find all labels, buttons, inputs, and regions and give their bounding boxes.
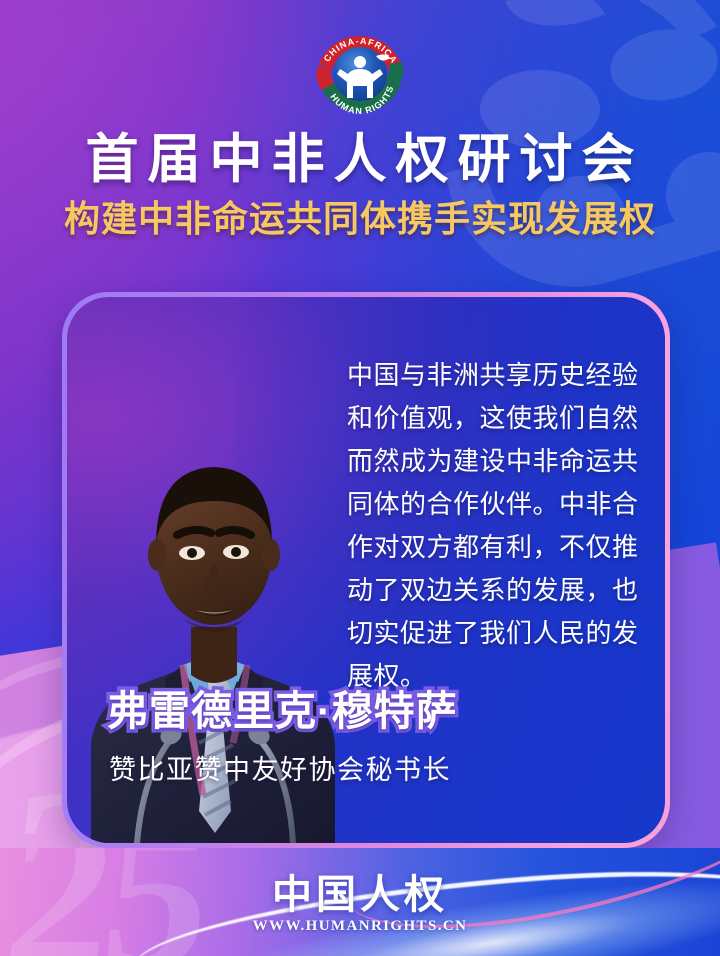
footer-website-url: WWW.HUMANRIGHTS.CN [0,918,720,935]
page-title: 首届中非人权研讨会 [0,133,720,186]
speaker-role: 赞比亚赞中友好协会秘书长 [109,748,451,787]
page-subtitle: 构建中非命运共同体携手实现发展权 [0,201,720,237]
poster-root: 25 [0,0,720,956]
speaker-name: 弗雷德里克·穆特萨 [107,677,458,737]
quote-card-inner: 中国与非洲共享历史经验和价值观，这使我们自然而然成为建设中非命运共同体的合作伙伴… [67,297,665,843]
quote-text: 中国与非洲共享历史经验和价值观，这使我们自然而然成为建设中非命运共同体的合作伙伴… [347,354,647,698]
quote-card: 中国与非洲共享历史经验和价值观，这使我们自然而然成为建设中非命运共同体的合作伙伴… [62,292,670,848]
header-logo-wrap: CHINA-AFRICA HUMAN RIGHTS [0,26,720,124]
footer-bar: 25 中国人权 WWW.HUMANRIGHTS.CN [0,848,720,956]
footer-brand-name: 中国人权 [0,862,720,920]
china-africa-human-rights-logo-icon: CHINA-AFRICA HUMAN RIGHTS [308,26,412,124]
